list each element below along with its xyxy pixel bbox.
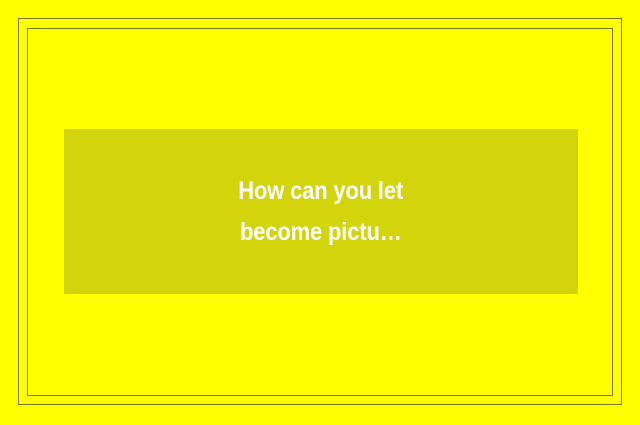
quote-card: How can you let become pictu… [64,129,578,294]
quote-line-1: How can you let [239,171,404,212]
poster-canvas: How can you let become pictu… [0,0,640,425]
quote-line-2: become pictu… [240,212,402,253]
